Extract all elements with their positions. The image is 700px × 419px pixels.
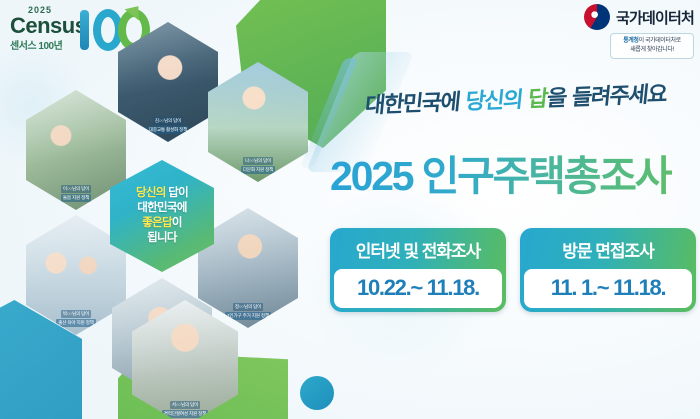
page-title: 2025 인구주택총조사	[330, 142, 696, 202]
survey-date-range: 10.22.~ 11.18.	[334, 275, 502, 301]
photo-caption: 서○○님의 답이 경력단절여성 지원 정책	[136, 401, 234, 418]
decor-teal-dot	[300, 376, 334, 410]
agency-rename-note: 통계청이 국가데이터처로 새롭게 찾아갑니다!	[610, 33, 694, 59]
tagline-word-2: 당신의	[464, 88, 529, 115]
photo-caption: 박○○님의 답이 출산 육아 지원 정책	[30, 310, 122, 327]
census-logo-subtitle: 센서스 100년	[10, 37, 62, 52]
caption-name: 이○○님의 답이	[61, 185, 91, 193]
survey-box-visit-interview[interactable]: 방문 면접조사 11. 1.~ 11.18.	[520, 228, 696, 312]
photo-caption: 김○○님의 답이 대중교통 활성화 정책	[122, 117, 214, 134]
caption-policy: 출산 육아 지원 정책	[56, 319, 95, 327]
agency-note-rest: 이 국가데이터처로	[639, 38, 681, 44]
photo-caption: 나○○님의 답이 다문화 지원 정책	[212, 157, 304, 174]
center-message-text: 당신의 답이 대한민국에 좋은답이 됩니다	[136, 186, 188, 247]
photo-caption: 이○○님의 답이 돌봄 지원 정책	[30, 185, 122, 202]
caption-policy: 대중교통 활성화 정책	[147, 126, 189, 134]
message-line4: 됩니다	[136, 231, 188, 246]
government-agency-logo: 국가데이터처 통계청이 국가데이터처로 새롭게 찾아갑니다!	[584, 4, 694, 58]
message-line3-highlight: 좋은답	[142, 217, 172, 229]
caption-name: 박○○님의 답이	[61, 310, 91, 318]
agency-note-strong: 통계청	[623, 38, 638, 44]
tagline: 대한민국에 당신의 답을 들려주세요	[366, 82, 688, 128]
message-line1-highlight: 당신의	[136, 187, 168, 199]
agency-name: 국가데이터처	[616, 7, 694, 28]
survey-box-body: 10.22.~ 11.18.	[334, 269, 502, 308]
tagline-word-4: 을 들려주세요	[546, 82, 668, 112]
caption-policy: 돌봄 지원 정책	[61, 194, 91, 202]
message-line1-rest: 답이	[168, 187, 188, 199]
caption-name: 김○○님의 답이	[153, 117, 183, 125]
agency-note-line2: 새롭게 찾아갑니다!	[616, 46, 688, 55]
survey-date-range: 11. 1.~ 11.18.	[524, 275, 692, 301]
caption-name: 서○○님의 답이	[170, 401, 200, 409]
taegeuk-icon	[584, 4, 610, 30]
message-line3-rest: 이	[172, 217, 182, 229]
tagline-word-1: 대한민국에	[364, 90, 467, 119]
census-logo-word: Census	[10, 13, 86, 39]
photo-cell-kid-father: 나○○님의 답이 다문화 지원 정책	[208, 62, 308, 182]
caption-policy: 경력단절여성 지원 정책	[162, 410, 208, 418]
caption-policy: 1인가구 주거 지원 정책	[225, 312, 271, 320]
survey-info-boxes: 인터넷 및 전화조사 10.22.~ 11.18. 방문 면접조사 11. 1.…	[330, 228, 696, 312]
photo-caption: 정○○님의 답이 1인가구 주거 지원 정책	[202, 303, 294, 320]
survey-box-internet-phone[interactable]: 인터넷 및 전화조사 10.22.~ 11.18.	[330, 228, 506, 312]
caption-name: 정○○님의 답이	[233, 303, 263, 311]
survey-box-title: 인터넷 및 전화조사	[334, 232, 502, 269]
survey-box-body: 11. 1.~ 11.18.	[524, 269, 692, 308]
message-line2: 대한민국에	[136, 201, 188, 216]
caption-policy: 다문화 지원 정책	[241, 166, 275, 174]
caption-name: 나○○님의 답이	[243, 157, 273, 165]
census-promo-banner: 2025 Census 센서스 100년 국가데이터처 통계청이 국가데이터처로…	[0, 0, 700, 419]
survey-box-title: 방문 면접조사	[524, 232, 692, 269]
